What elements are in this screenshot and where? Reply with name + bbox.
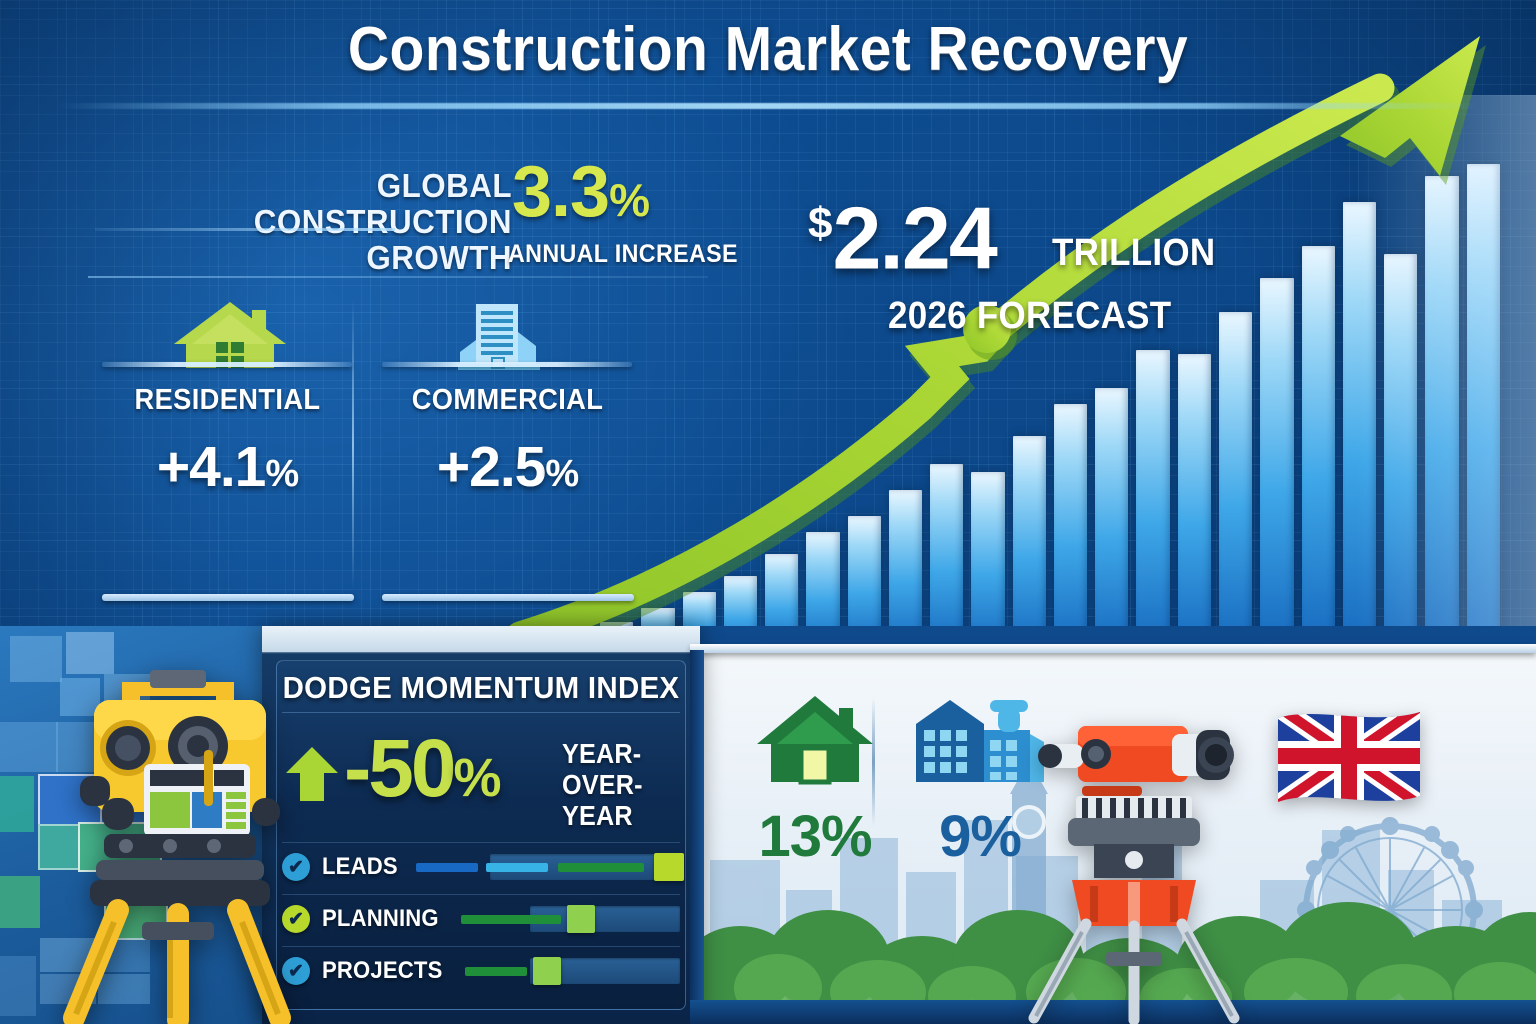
commercial-label: COMMERCIAL — [406, 384, 608, 417]
chart-bar — [1302, 246, 1335, 650]
dodge-momentum-index-panel: DODGE MOMENTUM INDEX -50% YEAR- OVER-YEA… — [262, 626, 700, 1024]
dmi-checklist-row[interactable]: ✔PROJECTS — [282, 946, 680, 995]
chart-bar — [1178, 354, 1211, 650]
annual-increase-caption: ANNUAL INCREASE — [508, 240, 738, 269]
chart-bar — [1136, 350, 1169, 650]
dmi-progress-track — [416, 854, 680, 880]
residential-mini-bars — [128, 516, 328, 596]
dmi-checklist-row[interactable]: ✔PLANNING — [282, 894, 680, 943]
dmi-title: DODGE MOMENTUM INDEX — [273, 670, 689, 706]
dmi-row-label: PLANNING — [322, 905, 439, 933]
union-jack-flag-icon — [1274, 704, 1424, 808]
dmi-progress-segment — [416, 863, 478, 872]
global-growth-label: GLOBAL CONSTRUCTION GROWTH — [112, 168, 512, 276]
annual-growth-number: 3.3 — [512, 152, 609, 232]
house-icon — [755, 690, 875, 798]
dmi-progress-segment — [461, 915, 561, 924]
dmi-progress-marker — [533, 957, 561, 985]
dmi-progress-segment — [558, 863, 644, 872]
global-growth-rule-secondary — [88, 276, 708, 278]
commercial-number: +2.5 — [437, 435, 546, 499]
total-station-theodolite-icon — [38, 622, 318, 1024]
category-divider — [352, 300, 354, 590]
dmi-period-line2: OVER-YEAR — [562, 769, 686, 831]
residential-value: +4.1% — [120, 434, 335, 500]
dmi-row-label: LEADS — [322, 853, 398, 881]
commercial-value: +2.5% — [400, 434, 615, 500]
forecast-number: 2.24 — [832, 188, 995, 287]
chart-bar — [1219, 312, 1252, 650]
global-growth-label-line2: GROWTH — [132, 240, 512, 276]
dmi-period: YEAR- OVER-YEAR — [562, 738, 686, 831]
residential-bar-base — [102, 594, 354, 601]
commercial-bar-base — [382, 594, 634, 601]
dmi-panel-top-cap — [262, 626, 700, 652]
chart-bar — [1095, 388, 1128, 650]
forecast-caption: 2026 FORECAST — [888, 295, 1171, 338]
page-title: Construction Market Recovery — [61, 14, 1474, 85]
region-stat-residential-value: 13% — [735, 803, 895, 870]
dmi-checklist-row[interactable]: ✔LEADS — [282, 842, 680, 891]
dmi-delta-symbol: % — [454, 748, 499, 808]
dmi-progress-segment — [465, 967, 527, 976]
forecast-currency-symbol: $ — [808, 199, 832, 248]
dmi-row-label: PROJECTS — [322, 957, 442, 985]
commercial-shelf — [382, 362, 632, 367]
residential-number: +4.1 — [157, 435, 266, 499]
region-stat-divider — [872, 698, 875, 826]
dmi-progress-marker — [654, 853, 684, 881]
commercial-unit: % — [545, 453, 578, 495]
residential-unit: % — [265, 453, 298, 495]
residential-shelf — [102, 362, 352, 367]
chart-bar — [930, 464, 963, 650]
chart-bar — [1260, 278, 1293, 650]
infographic-canvas: Construction Market Recovery GLOBAL CONS… — [0, 0, 1536, 1024]
chart-bar — [971, 472, 1004, 650]
dmi-progress-track — [461, 906, 680, 932]
chart-right-glow — [1356, 95, 1536, 655]
annual-growth-symbol: % — [609, 174, 649, 226]
dmi-progress-marker — [567, 905, 595, 933]
forecast-scale: TRILLION — [1052, 232, 1215, 275]
dmi-progress-track — [465, 958, 680, 984]
forecast-amount: $2.24 — [808, 182, 996, 280]
dmi-delta: -50% — [344, 730, 499, 817]
chart-bar — [1054, 404, 1087, 650]
dmi-period-line1: YEAR- — [562, 738, 686, 769]
title-underline-rule — [55, 103, 1481, 109]
dmi-progress-segment — [486, 863, 548, 872]
residential-label: RESIDENTIAL — [126, 384, 328, 417]
region-panel-left-edge — [690, 650, 704, 1024]
dmi-title-rule — [282, 712, 680, 713]
annual-growth-percent: 3.3% — [512, 158, 649, 234]
chart-bar — [1013, 436, 1046, 650]
region-stat-residential: 13% — [735, 690, 895, 870]
commercial-mini-bars — [408, 516, 608, 596]
dmi-delta-number: -50 — [344, 723, 454, 814]
global-growth-rule — [95, 228, 395, 231]
region-panel-top-shelf — [690, 644, 1536, 653]
surveying-level-icon — [1020, 700, 1250, 1024]
